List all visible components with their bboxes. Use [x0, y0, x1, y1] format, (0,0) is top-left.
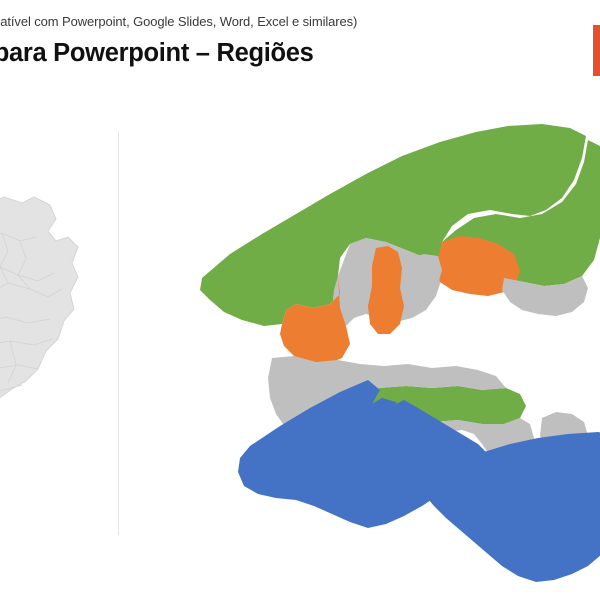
slide-header: Compatível com Powerpoint, Google Slides… — [0, 14, 526, 68]
region-gray-interior-2 — [402, 254, 442, 306]
slide-canvas: Compatível com Powerpoint, Google Slides… — [0, 0, 600, 600]
brazil-locator-map — [0, 193, 114, 423]
locator-map-shape — [0, 195, 78, 419]
accent-bar — [593, 25, 600, 76]
brazil-regions-map — [190, 118, 600, 588]
locator-brazil-outline — [0, 195, 78, 419]
page-title: M para Powerpoint – Regiões — [0, 38, 526, 68]
vertical-divider — [118, 131, 119, 535]
slide-subtitle: Compatível com Powerpoint, Google Slides… — [0, 14, 526, 30]
